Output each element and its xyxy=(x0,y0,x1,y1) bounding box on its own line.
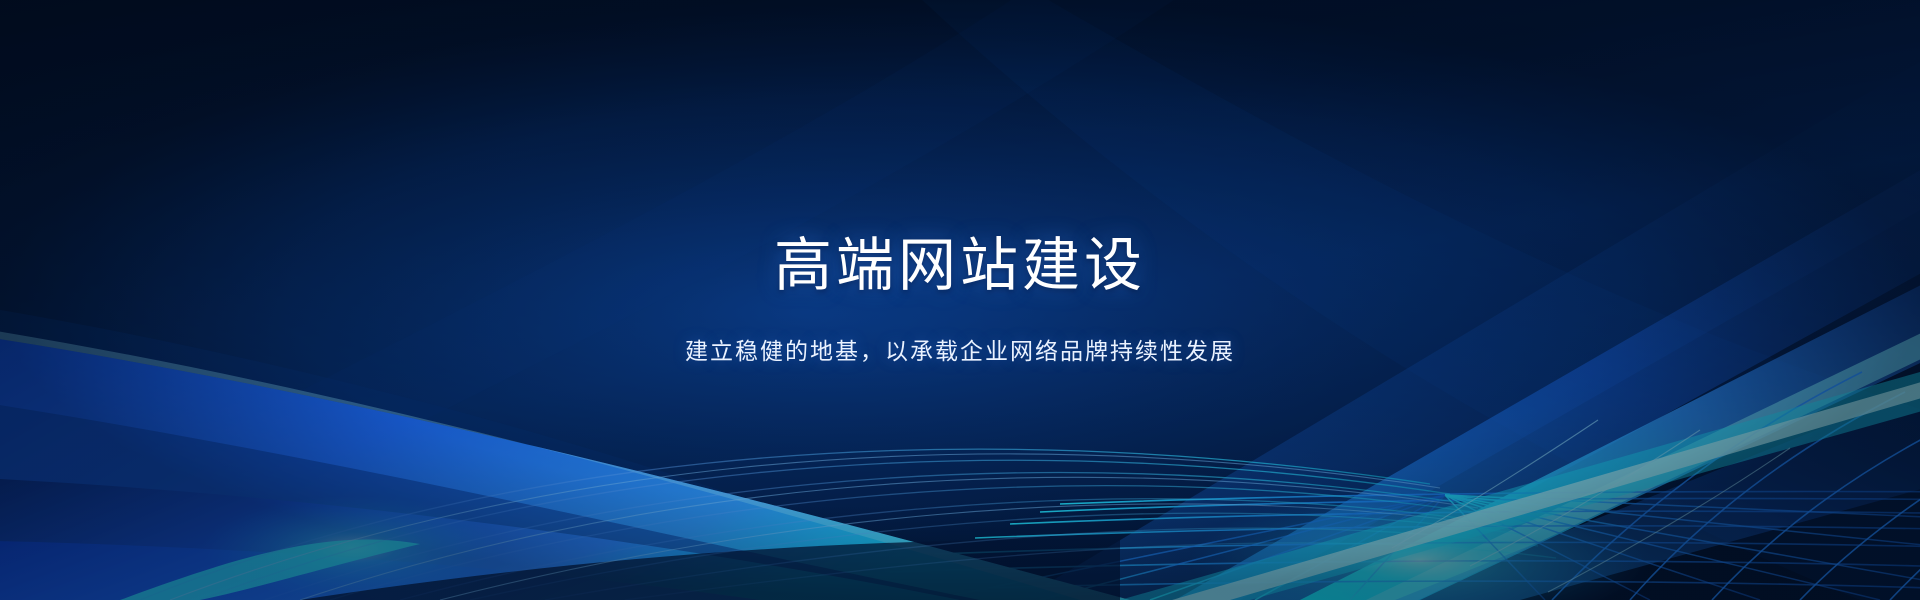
background-artwork xyxy=(0,0,1920,600)
vignette xyxy=(0,0,1920,600)
hero-banner: 高端网站建设 建立稳健的地基，以承载企业网络品牌持续性发展 xyxy=(0,0,1920,600)
